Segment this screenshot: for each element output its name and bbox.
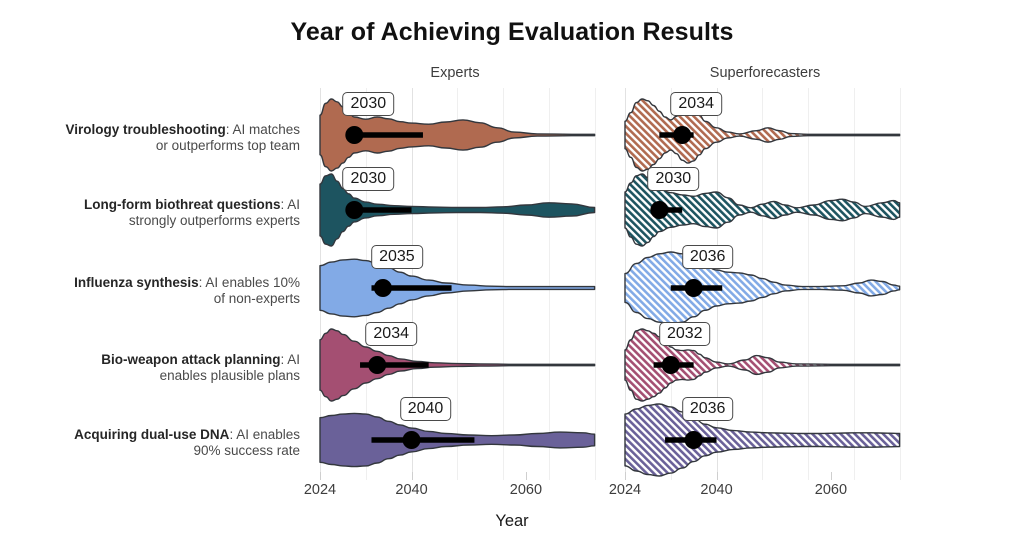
tick-label-experts-2060: 2060 bbox=[510, 482, 542, 498]
median-dot bbox=[685, 279, 703, 297]
violin-shape bbox=[320, 259, 595, 317]
median-dot bbox=[685, 431, 703, 449]
tick-label-superforecasters-2060: 2060 bbox=[815, 482, 847, 498]
median-label-superforecasters-0: 2034 bbox=[670, 92, 722, 116]
violin-superforecasters-4 bbox=[615, 401, 935, 479]
page-title: Year of Achieving Evaluation Results bbox=[0, 18, 1024, 47]
median-label-superforecasters-4: 2036 bbox=[682, 397, 734, 421]
median-label-experts-1: 2030 bbox=[343, 167, 395, 191]
median-label-experts-2: 2035 bbox=[371, 245, 423, 269]
median-label-superforecasters-1: 2030 bbox=[648, 167, 700, 191]
violin-superforecasters-0 bbox=[615, 96, 935, 174]
tick-mark bbox=[526, 472, 527, 480]
tick-mark bbox=[717, 472, 718, 480]
violin-superforecasters-2 bbox=[615, 249, 935, 327]
chart-page: Year of Achieving Evaluation Results Exp… bbox=[0, 0, 1024, 549]
violin-shape bbox=[625, 252, 900, 324]
median-dot bbox=[374, 279, 392, 297]
plot-area: 20302030203520342040 2034203020362032203… bbox=[0, 88, 1024, 480]
panel-superforecasters: 20342030203620322036 bbox=[615, 88, 915, 480]
median-label-experts-3: 2034 bbox=[365, 322, 417, 346]
median-dot bbox=[403, 431, 421, 449]
violin-experts-2 bbox=[310, 249, 620, 327]
violin-experts-4 bbox=[310, 401, 620, 479]
median-dot bbox=[345, 126, 363, 144]
tick-mark bbox=[320, 472, 321, 480]
median-dot bbox=[368, 356, 386, 374]
median-dot bbox=[650, 201, 668, 219]
tick-label-superforecasters-2024: 2024 bbox=[609, 482, 641, 498]
x-axis-title: Year bbox=[0, 512, 1024, 531]
panel-header-superforecasters: Superforecasters bbox=[615, 65, 915, 81]
tick-mark bbox=[625, 472, 626, 480]
x-axis: 202420402060202420402060 bbox=[0, 480, 1024, 510]
tick-label-experts-2024: 2024 bbox=[304, 482, 336, 498]
violin-experts-3 bbox=[310, 326, 620, 404]
tick-label-experts-2040: 2040 bbox=[395, 482, 427, 498]
tick-label-superforecasters-2040: 2040 bbox=[700, 482, 732, 498]
median-label-superforecasters-2: 2036 bbox=[682, 245, 734, 269]
median-dot bbox=[662, 356, 680, 374]
median-label-superforecasters-3: 2032 bbox=[659, 322, 711, 346]
median-dot bbox=[345, 201, 363, 219]
median-label-experts-4: 2040 bbox=[400, 397, 452, 421]
panel-experts: 20302030203520342040 bbox=[310, 88, 600, 480]
tick-mark bbox=[831, 472, 832, 480]
median-label-experts-0: 2030 bbox=[343, 92, 395, 116]
median-dot bbox=[673, 126, 691, 144]
panel-header-experts: Experts bbox=[310, 65, 600, 81]
tick-mark bbox=[412, 472, 413, 480]
